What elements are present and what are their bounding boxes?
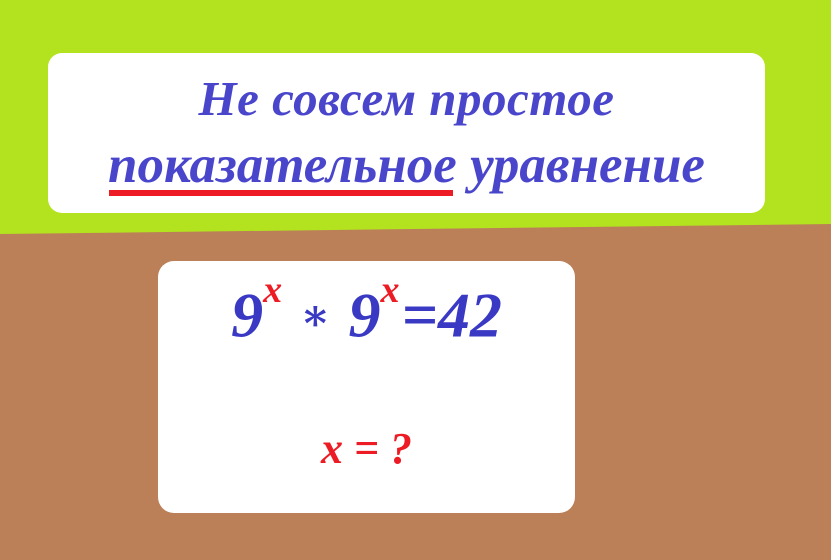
answer-prompt: x = ? [158, 427, 575, 471]
equation-right-base: 9 [348, 279, 380, 350]
title-underlined-word: показательное [108, 139, 457, 192]
equation-left-base: 9 [231, 279, 263, 350]
title-line-two-rest: уравнение [457, 136, 705, 194]
title-card: Не совсем простое показательное уравнени… [48, 53, 765, 213]
equation-expression: 9x∗9x=42 [158, 283, 575, 347]
equation-equals-sign: = [399, 279, 437, 350]
equation-result-value: 42 [438, 279, 502, 350]
equation-right-exponent: x [380, 269, 399, 311]
slide-root: Не совсем простое показательное уравнени… [0, 0, 831, 560]
equation-left-exponent: x [263, 269, 282, 311]
title-line-one: Не совсем простое [198, 74, 614, 123]
title-line-two: показательное уравнение [108, 139, 705, 192]
equation-multiplication-operator: ∗ [294, 291, 336, 340]
equation-card: 9x∗9x=42 x = ? [158, 261, 575, 513]
